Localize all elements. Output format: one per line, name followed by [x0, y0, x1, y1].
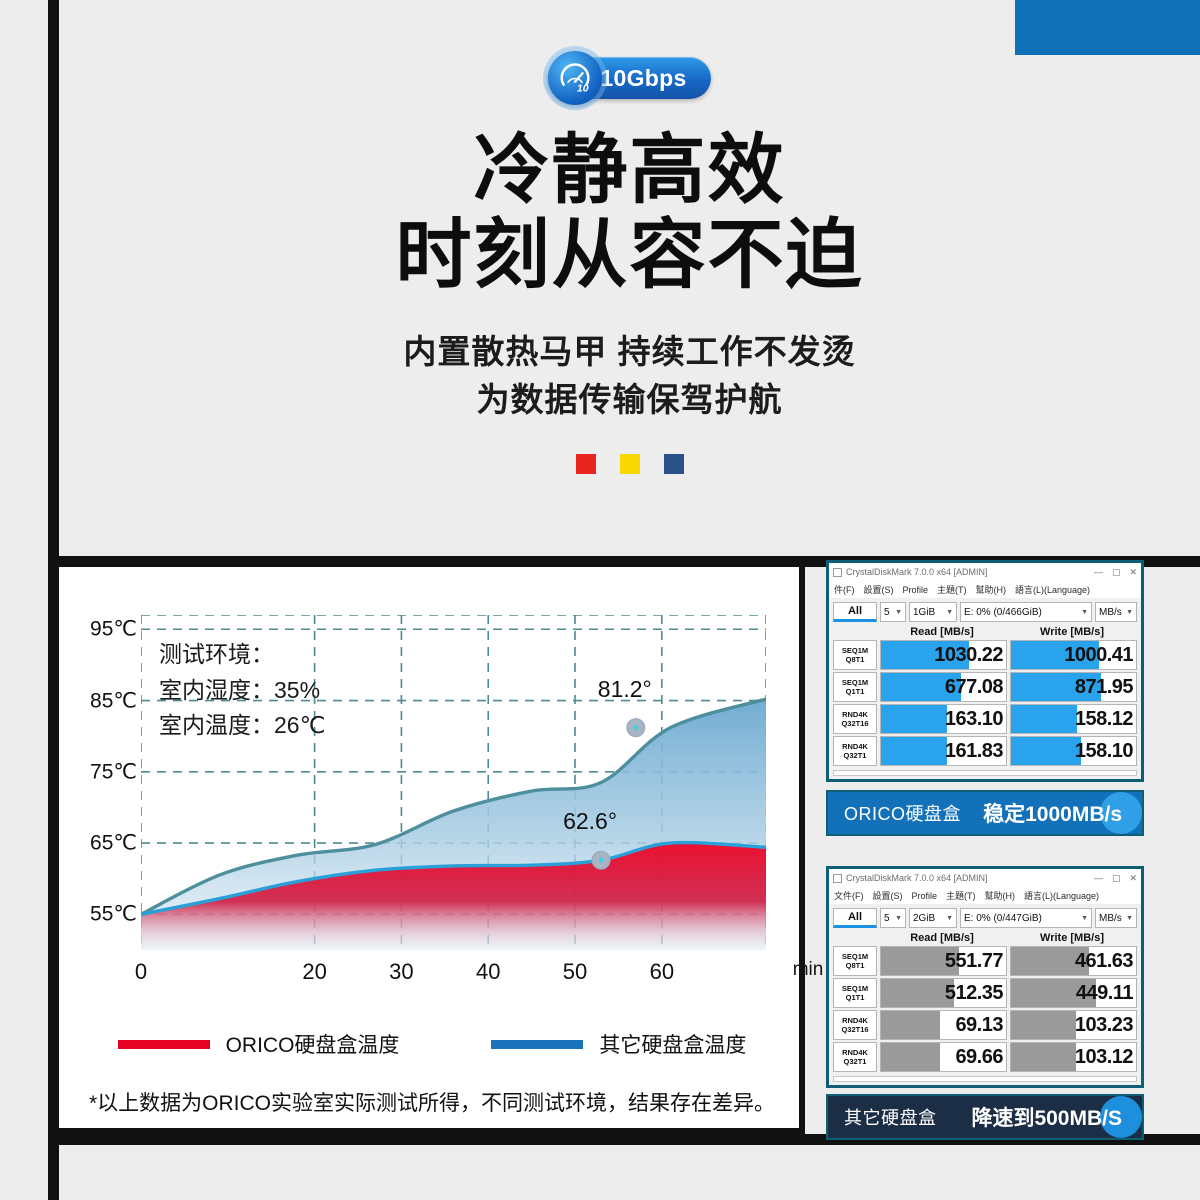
x-axis-tick: 20 — [302, 959, 326, 985]
table-row: SEQ1MQ8T1551.77461.63 — [833, 946, 1137, 976]
table-row: RND4KQ32T1161.83158.10 — [833, 736, 1137, 766]
table-row: SEQ1MQ8T11030.221000.41 — [833, 640, 1137, 670]
row-label: RND4KQ32T16 — [833, 704, 877, 734]
unit-select[interactable]: MB/s▼ — [1095, 602, 1137, 622]
window-title: CrystalDiskMark 7.0.0 x64 [ADMIN] — [846, 567, 1094, 577]
maximize-icon[interactable]: ▢ — [1112, 873, 1121, 884]
result-bar — [1011, 737, 1081, 765]
row-label: SEQ1MQ8T1 — [833, 946, 877, 976]
caption-result-orico: 稳定1000MB/s — [983, 798, 1128, 828]
swatch-yellow — [620, 454, 640, 474]
result-cell-read[interactable]: 551.77 — [880, 946, 1007, 976]
result-value: 103.23 — [1075, 1014, 1133, 1037]
swatch-red — [576, 454, 596, 474]
chevron-down-icon: ▼ — [1081, 609, 1088, 616]
minimize-icon[interactable]: — — [1094, 567, 1103, 578]
test-size-select[interactable]: 1GiB▼ — [909, 602, 957, 622]
table-row: RND4KQ32T169.66103.12 — [833, 1042, 1137, 1072]
benchmark-controls: All 5▼ 1GiB▼ E: 0% (0/466GiB)▼ MB/s▼ — [829, 598, 1141, 625]
benchmark-window-orico: CrystalDiskMark 7.0.0 x64 [ADMIN] — ▢ ✕ … — [826, 560, 1144, 782]
hero-section: 10Gbps 10 冷静高效 时刻从容不迫 内置散热马甲 持续工作不发烫 为数据… — [59, 0, 1200, 556]
result-table-rows: SEQ1MQ8T11030.221000.41SEQ1MQ1T1677.0887… — [829, 640, 1141, 770]
window-status-strip — [833, 1076, 1137, 1082]
window-title: CrystalDiskMark 7.0.0 x64 [ADMIN] — [846, 873, 1094, 883]
result-value: 551.77 — [945, 950, 1003, 973]
temperature-chart-panel: 55℃65℃75℃85℃95℃ — [59, 567, 805, 1134]
maximize-icon[interactable]: ▢ — [1112, 567, 1121, 578]
headline-line-1: 冷静高效 — [396, 128, 864, 213]
chart-data-label: 62.6° — [563, 808, 617, 835]
result-cell-read[interactable]: 1030.22 — [880, 640, 1007, 670]
chart-x-axis: 02030405060min — [141, 959, 801, 989]
caption-other: 其它硬盘盒 降速到500MB/S — [826, 1094, 1144, 1140]
x-axis-tick: 0 — [135, 959, 147, 985]
menu-bar: 文件(F) 設置(S) Profile 主題(T) 幫助(H) 語言(L)(La… — [829, 887, 1141, 904]
caption-device-orico: ORICO硬盘盒 — [844, 800, 961, 826]
result-cell-write[interactable]: 1000.41 — [1010, 640, 1137, 670]
result-cell-read[interactable]: 163.10 — [880, 704, 1007, 734]
result-value: 161.83 — [945, 740, 1003, 763]
result-bar — [1011, 1043, 1076, 1071]
headline-line-2: 时刻从容不迫 — [396, 213, 864, 298]
table-row: SEQ1MQ1T1677.08871.95 — [833, 672, 1137, 702]
x-axis-unit-label: min — [793, 959, 824, 981]
menu-item-profile[interactable]: Profile — [912, 891, 938, 901]
row-label: RND4KQ32T1 — [833, 1042, 877, 1072]
legend-label-other: 其它硬盘盒温度 — [599, 1029, 746, 1059]
result-value: 512.35 — [945, 982, 1003, 1005]
page-title: 冷静高效 时刻从容不迫 — [396, 128, 864, 298]
caption-device-other: 其它硬盘盒 — [844, 1104, 937, 1130]
result-value: 461.63 — [1075, 950, 1133, 973]
result-cell-write[interactable]: 158.12 — [1010, 704, 1137, 734]
chevron-down-icon: ▼ — [946, 609, 953, 616]
env-humidity: 室内湿度：35% — [159, 673, 325, 709]
menu-item-language[interactable]: 語言(L)(Language) — [1015, 583, 1090, 596]
close-icon[interactable]: ✕ — [1129, 567, 1137, 578]
result-bar — [881, 705, 947, 733]
y-axis-tick: 85℃ — [67, 688, 137, 713]
x-axis-tick: 50 — [563, 959, 587, 985]
test-count-select[interactable]: 5▼ — [880, 908, 906, 928]
swatch-navy — [664, 454, 684, 474]
test-count-select[interactable]: 5▼ — [880, 602, 906, 622]
table-row: RND4KQ32T16163.10158.12 — [833, 704, 1137, 734]
x-axis-tick: 40 — [476, 959, 500, 985]
minimize-icon[interactable]: — — [1094, 873, 1103, 884]
speed-badge: 10Gbps 10 — [548, 54, 710, 102]
chart-legend: ORICO硬盘盒温度 其它硬盘盒温度 — [59, 1029, 805, 1059]
chevron-down-icon: ▼ — [1081, 915, 1088, 922]
row-label: SEQ1MQ8T1 — [833, 640, 877, 670]
test-environment-note: 测试环境： 室内湿度：35% 室内温度：26℃ — [159, 637, 325, 744]
result-value: 69.13 — [955, 1014, 1003, 1037]
header-write: Write [MB/s] — [1007, 932, 1137, 944]
result-value: 677.08 — [945, 676, 1003, 699]
chevron-down-icon: ▼ — [895, 915, 902, 922]
row-label: SEQ1MQ1T1 — [833, 672, 877, 702]
result-value: 103.12 — [1075, 1046, 1133, 1069]
unit-select[interactable]: MB/s▼ — [1095, 908, 1137, 928]
result-cell-write[interactable]: 103.12 — [1010, 1042, 1137, 1072]
result-table-header: Read [MB/s] Write [MB/s] — [829, 625, 1141, 640]
frame-border-left — [48, 0, 59, 1200]
result-cell-write[interactable]: 449.11 — [1010, 978, 1137, 1008]
y-axis-tick: 65℃ — [67, 831, 137, 856]
x-axis-tick: 60 — [650, 959, 674, 985]
row-label: SEQ1MQ1T1 — [833, 978, 877, 1008]
result-value: 163.10 — [945, 708, 1003, 731]
result-bar — [881, 737, 947, 765]
row-label: RND4KQ32T16 — [833, 1010, 877, 1040]
drive-select[interactable]: E: 0% (0/466GiB)▼ — [960, 602, 1092, 622]
test-size-select[interactable]: 2GiB▼ — [909, 908, 957, 928]
y-axis-tick: 75℃ — [67, 759, 137, 784]
chevron-down-icon: ▼ — [946, 915, 953, 922]
run-all-button[interactable]: All — [833, 908, 877, 928]
page-subtitle: 内置散热马甲 持续工作不发烫 为数据传输保驾护航 — [403, 328, 855, 424]
result-bar — [881, 979, 954, 1007]
caption-result-other: 降速到500MB/S — [971, 1102, 1128, 1132]
menu-item-theme[interactable]: 主題(T) — [937, 583, 967, 596]
result-value: 69.66 — [955, 1046, 1003, 1069]
table-row: RND4KQ32T1669.13103.23 — [833, 1010, 1137, 1040]
y-axis-tick: 95℃ — [67, 617, 137, 642]
subtitle-line-1: 内置散热马甲 持续工作不发烫 — [403, 328, 855, 376]
subtitle-line-2: 为数据传输保驾护航 — [403, 376, 855, 424]
result-bar — [881, 1011, 940, 1039]
y-axis-tick: 55℃ — [67, 902, 137, 927]
table-row: SEQ1MQ1T1512.35449.11 — [833, 978, 1137, 1008]
svg-text:10: 10 — [577, 83, 589, 94]
app-icon — [833, 874, 842, 883]
close-icon[interactable]: ✕ — [1129, 873, 1137, 884]
result-value: 449.11 — [1076, 982, 1133, 1005]
menu-item-settings[interactable]: 設置(S) — [873, 889, 903, 902]
env-heading: 测试环境： — [159, 637, 325, 673]
speed-badge-label: 10Gbps — [600, 65, 686, 92]
legend-swatch-red — [118, 1040, 210, 1049]
run-all-button[interactable]: All — [833, 602, 877, 622]
chart-footnote: *以上数据为ORICO实验室实际测试所得，不同测试环境，结果存在差异。 — [59, 1087, 805, 1117]
result-value: 1000.41 — [1064, 644, 1133, 667]
drive-select[interactable]: E: 0% (0/447GiB)▼ — [960, 908, 1092, 928]
result-value: 158.12 — [1075, 708, 1133, 731]
result-cell-read[interactable]: 512.35 — [880, 978, 1007, 1008]
window-status-strip — [833, 770, 1137, 776]
color-swatch-row — [576, 454, 684, 474]
benchmark-window-other: CrystalDiskMark 7.0.0 x64 [ADMIN] — ▢ ✕ … — [826, 866, 1144, 1088]
legend-label-orico: ORICO硬盘盒温度 — [226, 1029, 400, 1059]
window-titlebar: CrystalDiskMark 7.0.0 x64 [ADMIN] — ▢ ✕ — [829, 869, 1141, 887]
menu-item-file[interactable]: 文件(F) — [834, 889, 864, 902]
result-bar — [1011, 1011, 1076, 1039]
result-cell-write[interactable]: 103.23 — [1010, 1010, 1137, 1040]
result-bar — [1011, 705, 1077, 733]
menu-item-file[interactable]: 件(F) — [834, 583, 855, 596]
menu-item-settings[interactable]: 設置(S) — [864, 583, 894, 596]
env-temperature: 室内温度：26℃ — [159, 708, 325, 744]
legend-swatch-blue — [491, 1040, 583, 1049]
legend-item-other: 其它硬盘盒温度 — [491, 1029, 746, 1059]
result-cell-write[interactable]: 871.95 — [1010, 672, 1137, 702]
chart-data-label: 81.2° — [598, 676, 652, 703]
benchmark-controls: All 5▼ 2GiB▼ E: 0% (0/447GiB)▼ MB/s▼ — [829, 904, 1141, 931]
menu-bar: 件(F) 設置(S) Profile 主題(T) 幫助(H) 語言(L)(Lan… — [829, 581, 1141, 598]
menu-item-theme[interactable]: 主題(T) — [946, 889, 976, 902]
menu-item-language[interactable]: 語言(L)(Language) — [1024, 889, 1099, 902]
result-cell-write[interactable]: 158.10 — [1010, 736, 1137, 766]
chevron-down-icon: ▼ — [895, 609, 902, 616]
menu-item-help[interactable]: 幫助(H) — [976, 583, 1007, 596]
header-read: Read [MB/s] — [877, 626, 1007, 638]
chevron-down-icon: ▼ — [1126, 609, 1133, 616]
legend-item-orico: ORICO硬盘盒温度 — [118, 1029, 400, 1059]
result-table-header: Read [MB/s] Write [MB/s] — [829, 931, 1141, 946]
row-label: RND4KQ32T1 — [833, 736, 877, 766]
menu-item-help[interactable]: 幫助(H) — [985, 889, 1016, 902]
result-value: 1030.22 — [934, 644, 1003, 667]
chevron-down-icon: ▼ — [1126, 915, 1133, 922]
app-icon — [833, 568, 842, 577]
caption-orico: ORICO硬盘盒 稳定1000MB/s — [826, 790, 1144, 836]
header-read: Read [MB/s] — [877, 932, 1007, 944]
menu-item-profile[interactable]: Profile — [903, 585, 929, 595]
speedometer-icon: 10 — [548, 51, 602, 105]
result-cell-write[interactable]: 461.63 — [1010, 946, 1137, 976]
header-write: Write [MB/s] — [1007, 626, 1137, 638]
result-table-rows: SEQ1MQ8T1551.77461.63SEQ1MQ1T1512.35449.… — [829, 946, 1141, 1076]
result-cell-read[interactable]: 161.83 — [880, 736, 1007, 766]
result-value: 158.10 — [1075, 740, 1133, 763]
result-value: 871.95 — [1075, 676, 1133, 699]
result-cell-read[interactable]: 69.66 — [880, 1042, 1007, 1072]
result-bar — [881, 1043, 940, 1071]
result-cell-read[interactable]: 677.08 — [880, 672, 1007, 702]
result-cell-read[interactable]: 69.13 — [880, 1010, 1007, 1040]
window-titlebar: CrystalDiskMark 7.0.0 x64 [ADMIN] — ▢ ✕ — [829, 563, 1141, 581]
x-axis-tick: 30 — [389, 959, 413, 985]
